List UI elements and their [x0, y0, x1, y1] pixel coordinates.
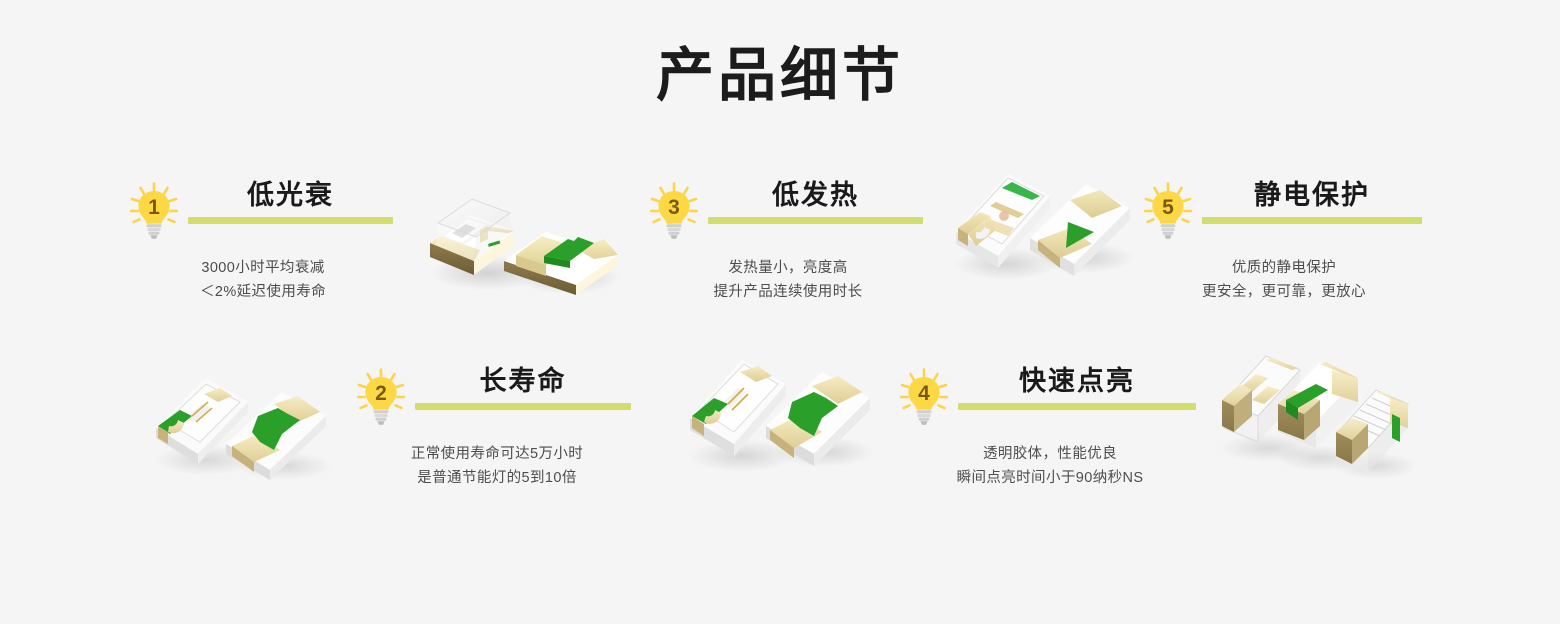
feature-2-description: 正常使用寿命可达5万小时 是普通节能灯的5到10倍	[361, 443, 633, 491]
feature-4-description: 透明胶体，性能优良 瞬间点亮时间小于90纳秒NS	[904, 443, 1196, 491]
feature-3-description: 发热量小，亮度高 提升产品连续使用时长	[654, 257, 922, 305]
feature-block-4: 4 快速点亮 透明胶体，性能优良 瞬间点亮时间小于90纳秒NS	[898, 368, 1196, 491]
feature-block-5: 5 静电保护 优质的静电保护 更安全，更可靠，更放心	[1142, 182, 1422, 305]
product-details-page: 产品细节	[0, 0, 1560, 624]
feature-block-2: 2 长寿命 正常使用寿命可达5万小时 是普通节能灯的5到10倍	[355, 368, 633, 491]
page-title: 产品细节	[0, 44, 1560, 108]
product-image-2	[148, 368, 334, 484]
feature-5-underline	[1202, 217, 1422, 224]
feature-3-desc-line-2: 提升产品连续使用时长	[654, 281, 922, 305]
feature-2-underline	[415, 403, 631, 410]
feature-1-desc-line-1: 3000小时平均衰减	[134, 257, 392, 281]
feature-1-title: 低光衰	[188, 182, 393, 209]
lightbulb-icon: 2	[355, 368, 407, 426]
feature-5-header: 5 静电保护	[1142, 182, 1422, 240]
lightbulb-icon: 3	[648, 182, 700, 240]
product-image-5	[1208, 348, 1414, 488]
feature-block-3: 3 低发热 发热量小，亮度高 提升产品连续使用时长	[648, 182, 923, 305]
feature-5-number: 5	[1162, 196, 1174, 219]
feature-1-header: 1 低光衰	[128, 182, 393, 240]
feature-3-header: 3 低发热	[648, 182, 923, 240]
feature-2-title-group: 长寿命	[415, 368, 631, 410]
feature-3-desc-line-1: 发热量小，亮度高	[654, 257, 922, 281]
lightbulb-icon: 5	[1142, 182, 1194, 240]
feature-1-underline	[188, 217, 393, 224]
feature-2-header: 2 长寿命	[355, 368, 633, 426]
lightbulb-icon: 1	[128, 182, 180, 240]
product-image-4	[680, 352, 876, 482]
feature-4-number: 4	[918, 382, 930, 405]
feature-1-title-group: 低光衰	[188, 182, 393, 224]
feature-1-description: 3000小时平均衰减 ＜2%延迟使用寿命	[134, 257, 392, 305]
feature-4-title: 快速点亮	[958, 368, 1196, 395]
feature-5-desc-line-1: 优质的静电保护	[1148, 257, 1420, 281]
feature-2-number: 2	[375, 382, 387, 405]
feature-2-desc-line-2: 是普通节能灯的5到10倍	[361, 467, 633, 491]
feature-4-header: 4 快速点亮	[898, 368, 1196, 426]
feature-4-title-group: 快速点亮	[958, 368, 1196, 410]
feature-2-desc-line-1: 正常使用寿命可达5万小时	[361, 443, 633, 467]
product-image-1	[418, 183, 624, 301]
feature-4-desc-line-1: 透明胶体，性能优良	[904, 443, 1196, 467]
feature-1-number: 1	[148, 196, 160, 219]
feature-3-title: 低发热	[708, 182, 923, 209]
feature-5-desc-line-2: 更安全，更可靠，更放心	[1148, 281, 1420, 305]
feature-block-1: 1 低光衰 3000小时平均衰减 ＜2%延迟使用寿命	[128, 182, 393, 305]
feature-5-description: 优质的静电保护 更安全，更可靠，更放心	[1148, 257, 1420, 305]
lightbulb-icon: 4	[898, 368, 950, 426]
feature-5-title: 静电保护	[1202, 182, 1422, 209]
feature-1-desc-line-2: ＜2%延迟使用寿命	[134, 281, 392, 305]
feature-4-underline	[958, 403, 1196, 410]
product-image-3	[946, 166, 1136, 288]
feature-3-number: 3	[668, 196, 680, 219]
feature-3-title-group: 低发热	[708, 182, 923, 224]
feature-5-title-group: 静电保护	[1202, 182, 1422, 224]
feature-3-underline	[708, 217, 923, 224]
feature-2-title: 长寿命	[415, 368, 631, 395]
feature-4-desc-line-2: 瞬间点亮时间小于90纳秒NS	[904, 467, 1196, 491]
